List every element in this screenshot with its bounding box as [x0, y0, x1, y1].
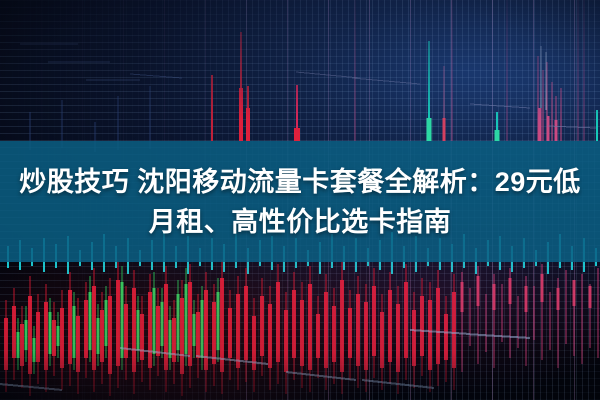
title-banner: 炒股技巧 沈阳移动流量卡套餐全解析：29元低月租、高性价比选卡指南 [0, 141, 600, 262]
cover-image: 炒股技巧 沈阳移动流量卡套餐全解析：29元低月租、高性价比选卡指南 [0, 0, 600, 400]
page-title: 炒股技巧 沈阳移动流量卡套餐全解析：29元低月租、高性价比选卡指南 [14, 162, 586, 242]
